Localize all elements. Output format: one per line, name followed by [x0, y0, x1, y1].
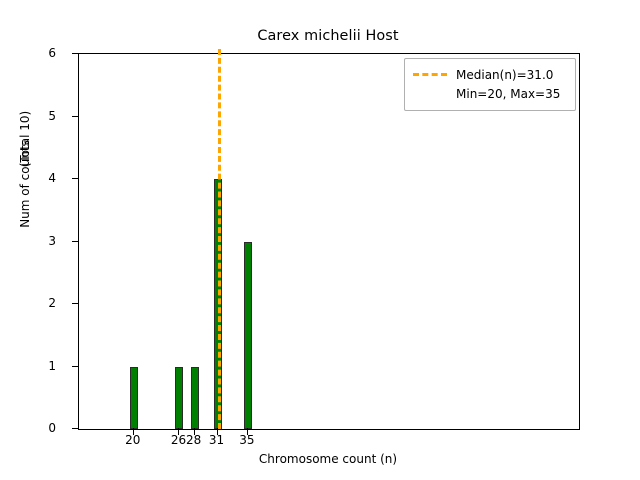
median-line — [218, 49, 221, 429]
bar-28 — [191, 367, 199, 430]
dashed-line-icon — [413, 73, 447, 76]
legend: Median(n)=31.0 Min=20, Max=35 — [404, 58, 576, 111]
chart-title: Carex michelii Host — [78, 28, 578, 44]
chart-figure: Carex michelii Host 0 1 2 3 4 5 6 Num of… — [0, 0, 640, 480]
x-axis-label: Chromosome count (n) — [78, 452, 578, 466]
y-axis-total-label: (Total 10) — [18, 34, 32, 244]
legend-label-minmax: Min=20, Max=35 — [456, 87, 560, 101]
legend-entry-minmax: Min=20, Max=35 — [413, 84, 567, 103]
bar-20 — [130, 367, 138, 430]
legend-label-median: Median(n)=31.0 — [456, 68, 553, 82]
x-tick-label-35: 35 — [227, 433, 267, 447]
bar-26 — [175, 367, 183, 430]
y-tick-label-0: 0 — [16, 421, 56, 435]
x-tick-label-20: 20 — [113, 433, 153, 447]
bar-35 — [244, 242, 252, 430]
legend-entry-median: Median(n)=31.0 — [413, 65, 567, 84]
